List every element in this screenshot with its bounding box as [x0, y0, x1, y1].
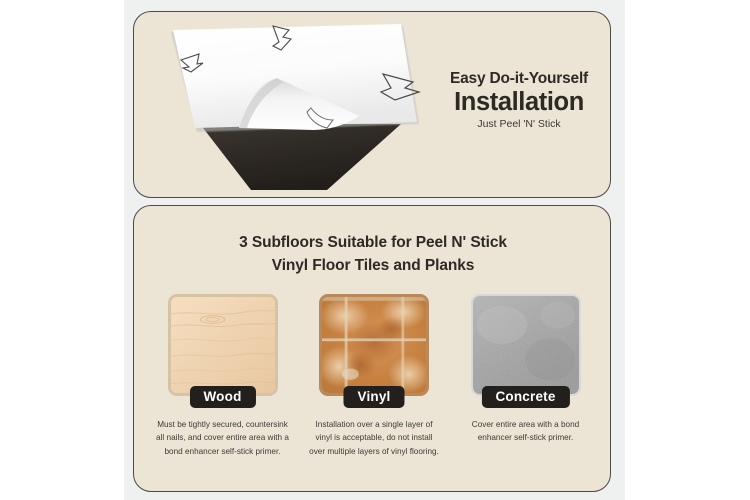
vinyl-caption: Installation over a single layer of viny…: [308, 418, 441, 458]
page-root: Easy Do-it-Yourself Installation Just Pe…: [0, 0, 750, 500]
subfloors-heading-line1: 3 Subfloors Suitable for Peel N' Stick: [134, 231, 612, 254]
vinyl-label-pill: Vinyl: [343, 386, 404, 408]
concrete-caption: Cover entire area with a bond enhancer s…: [459, 418, 592, 445]
subfloor-item-vinyl[interactable]: Vinyl Installation over a single layer o…: [308, 294, 441, 458]
subfloors-card: 3 Subfloors Suitable for Peel N' Stick V…: [133, 205, 611, 492]
concrete-label-pill: Concrete: [481, 386, 569, 408]
headline-eyebrow: Easy Do-it-Yourself: [434, 70, 604, 88]
vinyl-swatch-holder: Vinyl: [319, 294, 429, 396]
vinyl-tile-swatch: [319, 294, 429, 396]
wood-grain-swatch: [168, 294, 278, 396]
wood-texture-icon: [171, 297, 275, 393]
subfloors-heading: 3 Subfloors Suitable for Peel N' Stick V…: [134, 231, 612, 278]
wood-swatch-holder: Wood: [168, 294, 278, 396]
concrete-swatch-holder: Concrete: [471, 294, 581, 396]
vinyl-texture-icon: [322, 297, 426, 393]
installation-headline: Easy Do-it-Yourself Installation Just Pe…: [434, 70, 604, 130]
subfloor-item-concrete[interactable]: Concrete Cover entire area with a bond e…: [459, 294, 592, 458]
installation-card: Easy Do-it-Yourself Installation Just Pe…: [133, 11, 611, 198]
peel-and-stick-tile-photo: [151, 20, 449, 190]
concrete-surface-swatch: [471, 294, 581, 396]
wood-caption: Must be tightly secured, countersink all…: [156, 418, 289, 458]
subfloor-swatch-row: Wood Must be tightly secured, countersin…: [156, 294, 592, 458]
concrete-texture-icon: [473, 296, 579, 394]
subfloor-item-wood[interactable]: Wood Must be tightly secured, countersin…: [156, 294, 289, 458]
peel-illustration-icon: [151, 20, 449, 190]
headline-title: Installation: [434, 89, 604, 115]
headline-subtitle: Just Peel 'N' Stick: [434, 118, 604, 130]
wood-label-pill: Wood: [189, 386, 255, 408]
subfloors-heading-line2: Vinyl Floor Tiles and Planks: [134, 254, 612, 277]
